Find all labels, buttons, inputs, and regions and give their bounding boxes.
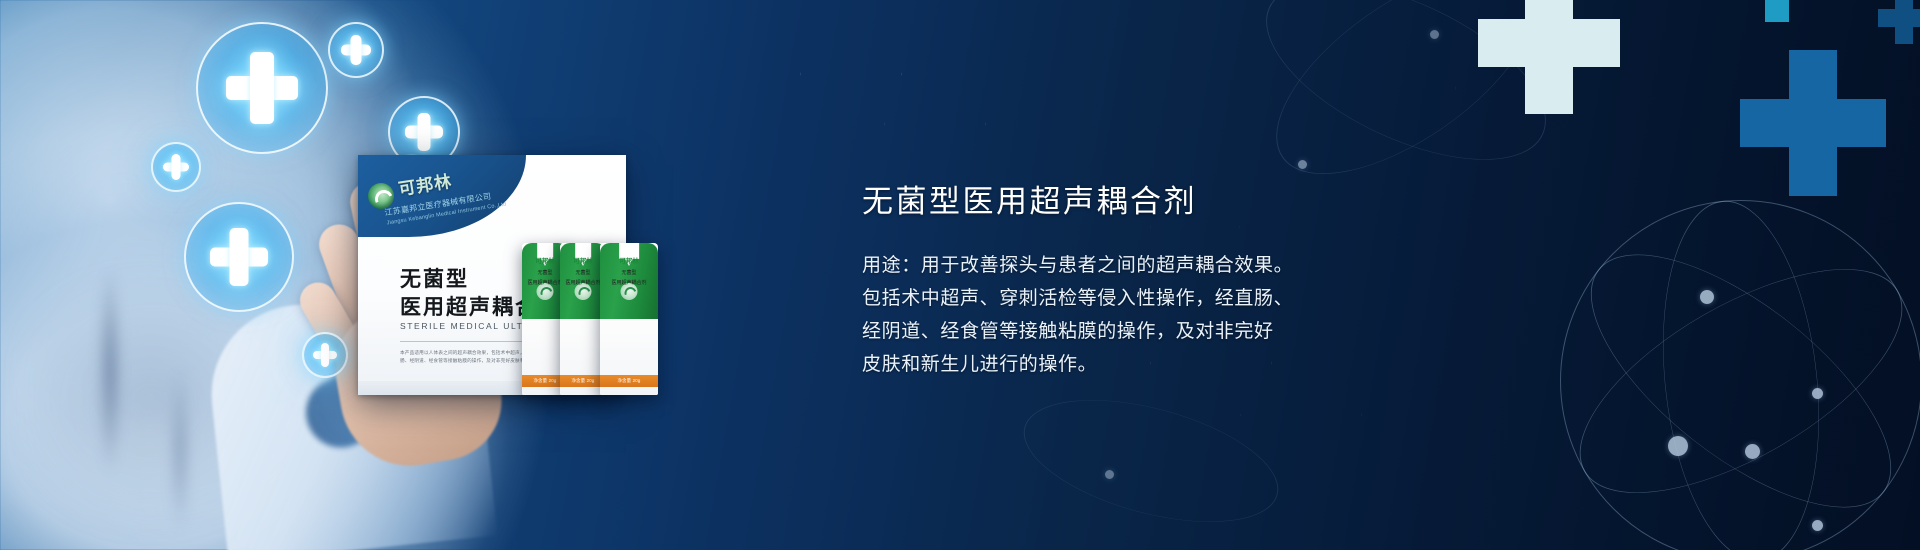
sachet-line2: 医用超声耦合剂 (565, 279, 600, 286)
sachet-weight-band: 净含量 20g (600, 375, 658, 387)
description-line: 包括术中超声、穿刺活检等侵入性操作，经直肠、 (862, 282, 1482, 315)
page-title: 无菌型医用超声耦合剂 (862, 176, 1482, 221)
medical-cross-flat-icon (1742, 0, 1812, 22)
medical-cross-flat-icon (1478, 0, 1620, 114)
sachet-brand: 可邦林 (573, 255, 593, 265)
sachet-line2: 医用超声耦合剂 (527, 279, 562, 286)
product-hero-banner: 可邦林 江苏嘉邦立医疗器械有限公司 Jiangsu Kebanglin Medi… (0, 0, 1920, 550)
medical-cross-flat-icon (1878, 0, 1920, 44)
medical-cross-glow-icon (184, 202, 294, 312)
box-title-line1: 无菌型 (400, 263, 469, 293)
description-line: 皮肤和新生儿进行的操作。 (862, 348, 1482, 381)
medical-cross-glow-icon (196, 22, 328, 154)
sachet-group: 可邦林 无菌型 医用超声耦合剂 净含量 20g 可邦林 无菌型 医用超声耦合剂 … (522, 243, 672, 395)
medical-cross-glow-icon (302, 332, 348, 378)
sachet-item: 可邦林 无菌型 医用超声耦合剂 净含量 20g (600, 243, 658, 395)
description-line: 经阴道、经食管等接触粘膜的操作，及对非完好 (862, 315, 1482, 348)
sachet-line2: 医用超声耦合剂 (611, 279, 646, 286)
sachet-line1: 无菌型 (575, 269, 590, 276)
sachet-line1: 无菌型 (537, 269, 552, 276)
medical-cross-flat-icon (1740, 50, 1886, 196)
medical-cross-glow-icon (151, 142, 201, 192)
medical-cross-glow-icon (328, 22, 384, 78)
banner-copy: 无菌型医用超声耦合剂 用途：用于改善探头与患者之间的超声耦合效果。 包括术中超声… (862, 176, 1482, 381)
brand-swirl-icon (368, 183, 394, 209)
description-block: 用途：用于改善探头与患者之间的超声耦合效果。 包括术中超声、穿刺活检等侵入性操作… (862, 221, 1482, 381)
description-line: 用途：用于改善探头与患者之间的超声耦合效果。 (862, 249, 1482, 282)
sachet-brand: 可邦林 (535, 255, 555, 265)
sachet-brand: 可邦林 (619, 255, 639, 265)
sachet-line1: 无菌型 (621, 269, 636, 276)
